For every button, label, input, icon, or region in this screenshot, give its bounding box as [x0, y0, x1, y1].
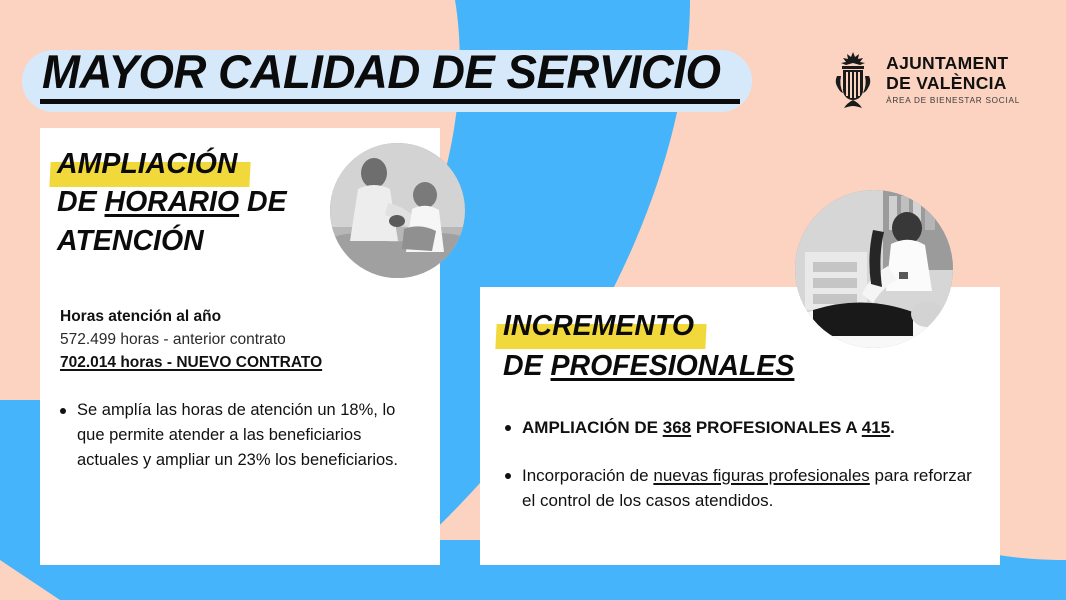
logo-subtitle: ÀREA DE BIENESTAR SOCIAL	[886, 96, 1020, 105]
bullet-text: AMPLIACIÓN DE 368 PROFESIONALES A 415.	[522, 415, 895, 441]
list-item: AMPLIACIÓN DE 368 PROFESIONALES A 415.	[505, 415, 985, 441]
physiotherapy-photo-illustration	[795, 190, 953, 348]
bullet-run: PROFESIONALES A	[691, 418, 862, 437]
bullet-emphasis: nuevas figuras profesionales	[653, 466, 869, 485]
right-heading-line-2: DE PROFESIONALES	[503, 350, 923, 383]
logo-line-2: DE VALÈNCIA	[886, 74, 1020, 94]
stats-label: Horas atención al año	[60, 306, 400, 329]
bullet-text: Se amplía las horas de atención un 18%, …	[77, 398, 415, 473]
bullet-run: .	[890, 418, 895, 437]
left-card-stats: Horas atención al año 572.499 horas - an…	[60, 306, 400, 374]
left-heading-line-3: ATENCIÓN	[57, 225, 327, 258]
left-heading-line2-c: DE	[239, 186, 287, 218]
right-heading-highlight: INCREMENTO	[503, 310, 694, 343]
right-card-bullets: AMPLIACIÓN DE 368 PROFESIONALES A 415. I…	[505, 415, 985, 514]
caregiver-photo-illustration	[330, 143, 465, 278]
right-heading-line2-underlined: PROFESIONALES	[551, 350, 795, 382]
logo-line-1: AJUNTAMENT	[886, 54, 1020, 74]
right-heading-line2-a: DE	[503, 350, 551, 382]
left-heading-line2-a: DE	[57, 186, 105, 218]
slide-canvas: MAYOR CALIDAD DE SERVICIO AJUNTA	[0, 0, 1066, 600]
slide-header: MAYOR CALIDAD DE SERVICIO AJUNTA	[0, 0, 1066, 128]
left-heading-line2-underlined: HORARIO	[105, 186, 240, 218]
bullet-dot-icon	[505, 473, 511, 479]
list-item: Incorporación de nuevas figuras profesio…	[505, 463, 985, 514]
left-card-heading: AMPLIACIÓN DE HORARIO DE ATENCIÓN	[57, 148, 327, 258]
ajuntament-valencia-logo: AJUNTAMENT DE VALÈNCIA ÀREA DE BIENESTAR…	[831, 50, 1020, 112]
physiotherapy-photo	[795, 190, 953, 348]
left-heading-line-1: AMPLIACIÓN	[57, 148, 327, 181]
left-card-bullets: Se amplía las horas de atención un 18%, …	[60, 398, 415, 473]
stats-new-contract: 702.014 horas - NUEVO CONTRATO	[60, 352, 400, 375]
caregiver-photo	[330, 143, 465, 278]
list-item: Se amplía las horas de atención un 18%, …	[60, 398, 415, 473]
valencia-coat-of-arms-icon	[831, 50, 875, 112]
bullet-run: AMPLIACIÓN DE	[522, 418, 663, 437]
bullet-emphasis: 415	[862, 418, 890, 437]
logo-text-block: AJUNTAMENT DE VALÈNCIA ÀREA DE BIENESTAR…	[886, 50, 1020, 105]
title-underline-rule	[40, 99, 740, 104]
bullet-emphasis: 368	[663, 418, 691, 437]
left-heading-line-2: DE HORARIO DE	[57, 186, 327, 219]
bullet-text: Incorporación de nuevas figuras profesio…	[522, 463, 985, 514]
bullet-run: Incorporación de	[522, 466, 653, 485]
left-heading-highlight: AMPLIACIÓN	[57, 148, 238, 181]
bullet-dot-icon	[60, 408, 66, 414]
bullet-dot-icon	[505, 425, 511, 431]
stats-previous-contract: 572.499 horas - anterior contrato	[60, 329, 400, 352]
page-title: MAYOR CALIDAD DE SERVICIO	[42, 48, 721, 95]
